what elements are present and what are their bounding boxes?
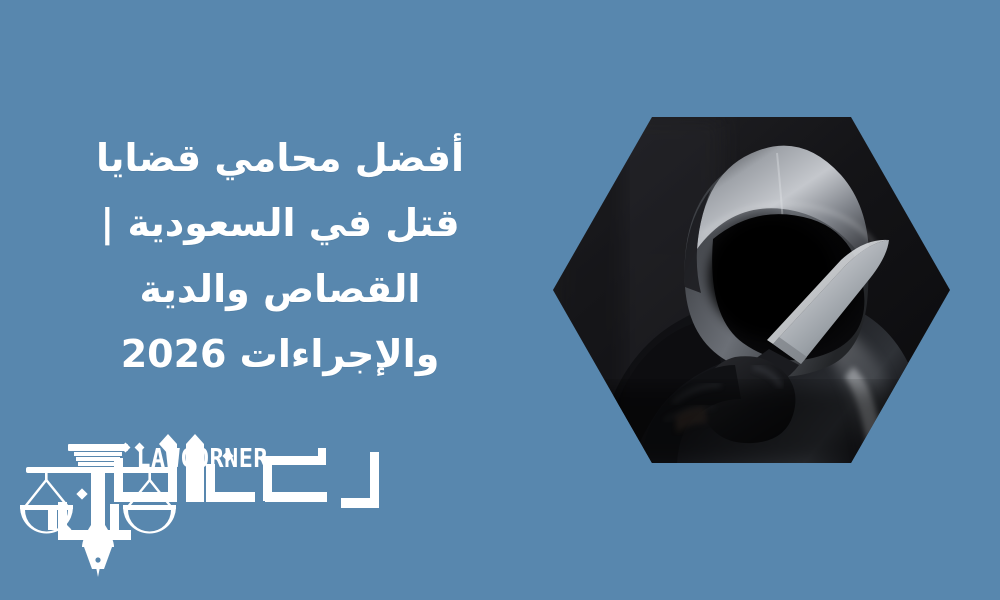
headline-line-3: القصاص والدية bbox=[40, 257, 520, 322]
headline-line-4: والإجراءات 2026 bbox=[40, 322, 520, 387]
site-logo: LAWCORNER bbox=[18, 430, 388, 580]
headline-line-2: قتل في السعودية | bbox=[40, 191, 520, 256]
featured-image-canvas: أفضل محامي قضايا قتل في السعودية | القصا… bbox=[0, 0, 1000, 600]
hero-photo-hexagon bbox=[553, 117, 950, 463]
photo-content bbox=[553, 117, 950, 463]
headline-line-1: أفضل محامي قضايا bbox=[40, 126, 520, 191]
page-title: أفضل محامي قضايا قتل في السعودية | القصا… bbox=[40, 126, 520, 387]
